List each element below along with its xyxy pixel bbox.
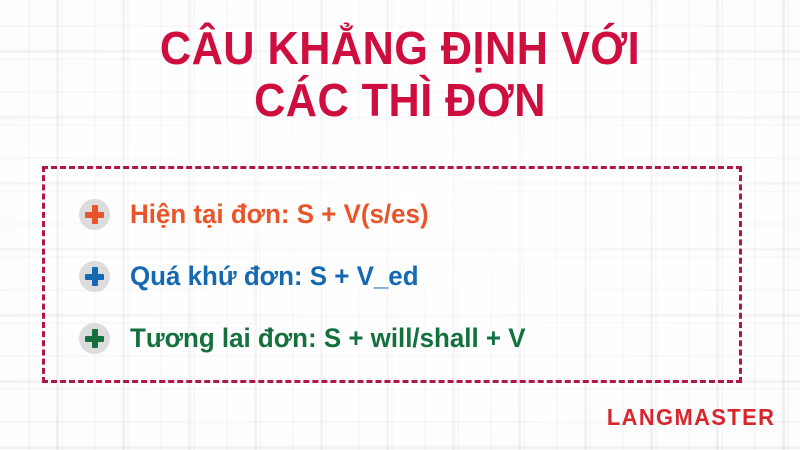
langmaster-logo: LANGMASTER [607, 404, 775, 431]
title-line-1: CÂU KHẲNG ĐỊNH VỚI [24, 22, 776, 74]
poster-canvas: CÂU KHẲNG ĐỊNH VỚI CÁC THÌ ĐƠN Hiện tại … [0, 0, 800, 450]
rule-row: Hiện tại đơn: S + V(s/es) [79, 194, 441, 234]
rule-row: Quá khứ đơn: S + V_ed [79, 256, 431, 296]
plus-vertical-bar [92, 329, 98, 348]
plus-vertical-bar [92, 205, 98, 224]
plus-circle-icon [79, 261, 110, 292]
rule-row: Tương lai đơn: S + will/shall + V [79, 318, 542, 358]
plus-vertical-bar [92, 267, 98, 286]
rule-label-present-simple: Hiện tại đơn: S + V(s/es) [130, 198, 429, 230]
plus-circle-icon [79, 199, 110, 230]
rule-label-future-simple: Tương lai đơn: S + will/shall + V [130, 322, 526, 354]
plus-circle-icon [79, 323, 110, 354]
rule-label-past-simple: Quá khứ đơn: S + V_ed [130, 260, 419, 292]
title-line-2: CÁC THÌ ĐƠN [24, 74, 776, 126]
page-title: CÂU KHẲNG ĐỊNH VỚI CÁC THÌ ĐƠN [0, 22, 800, 126]
rules-dashed-box: Hiện tại đơn: S + V(s/es) Quá khứ đơn: S… [42, 166, 742, 383]
